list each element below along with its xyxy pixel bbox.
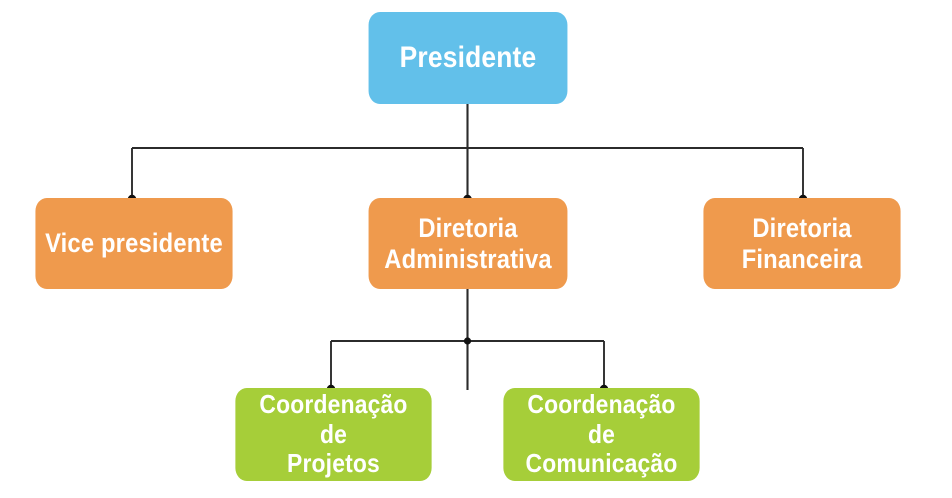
node-diretoria-administrativa[interactable]: Diretoria Administrativa [369, 198, 568, 289]
node-diretoria-financeira-label: Diretoria Financeira [742, 213, 863, 275]
connector-dot-admin-junction [464, 337, 471, 344]
node-coordenacao-projetos[interactable]: Coordenação de Projetos [235, 388, 431, 481]
node-diretoria-administrativa-label: Diretoria Administrativa [384, 213, 552, 275]
node-vice-presidente-label: Vice presidente [45, 228, 223, 259]
node-coordenacao-comunicacao-label: Coordenação de Comunicação [512, 390, 691, 479]
node-presidente-label: Presidente [400, 41, 537, 75]
organizational-chart: Presidente Vice presidente Diretoria Adm… [0, 0, 952, 498]
node-vice-presidente[interactable]: Vice presidente [35, 198, 232, 289]
node-diretoria-financeira[interactable]: Diretoria Financeira [703, 198, 900, 289]
node-coordenacao-comunicacao[interactable]: Coordenação de Comunicação [503, 388, 699, 481]
node-presidente[interactable]: Presidente [369, 12, 568, 104]
node-coordenacao-projetos-label: Coordenação de Projetos [244, 390, 423, 479]
